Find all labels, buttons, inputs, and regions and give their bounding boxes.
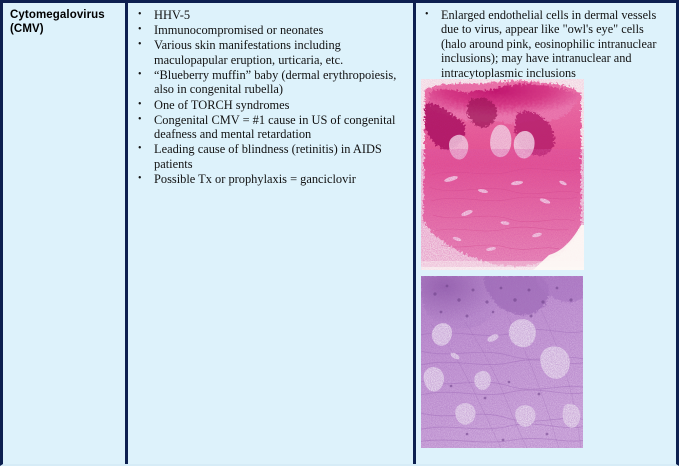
clinical-features-cell: HHV-5 Immunocompromised or neonates Vari…: [128, 3, 416, 464]
list-item: Enlarged endothelial cells in dermal ves…: [422, 8, 672, 80]
list-item: Leading cause of blindness (retinitis) i…: [134, 142, 409, 171]
list-item: “Blueberry muffin” baby (dermal erythrop…: [134, 68, 409, 97]
histopathology-cell: Enlarged endothelial cells in dermal ves…: [416, 3, 676, 464]
histology-slide-high-power: [421, 276, 583, 448]
histology-image-2-graphic: [421, 276, 583, 448]
list-item: Immunocompromised or neonates: [134, 23, 409, 38]
list-item: Various skin manifestations including ma…: [134, 38, 409, 67]
histology-slide-low-power: [421, 79, 584, 270]
histology-image-1-graphic: [421, 79, 584, 270]
list-item: HHV-5: [134, 8, 409, 23]
disease-title: Cytomegalovirus (CMV): [10, 9, 119, 36]
disease-title-line1: Cytomegalovirus: [10, 9, 119, 23]
list-item: One of TORCH syndromes: [134, 98, 409, 113]
list-item: Possible Tx or prophylaxis = ganciclovir: [134, 172, 409, 187]
clinical-features-list: HHV-5 Immunocompromised or neonates Vari…: [134, 8, 409, 187]
histopathology-list: Enlarged endothelial cells in dermal ves…: [422, 8, 672, 80]
list-item: Congenital CMV = #1 cause in US of conge…: [134, 113, 409, 142]
cmv-reference-table: Cytomegalovirus (CMV) HHV-5 Immunocompro…: [0, 0, 679, 466]
disease-title-line2: (CMV): [10, 23, 119, 37]
disease-name-cell: Cytomegalovirus (CMV): [3, 3, 128, 464]
